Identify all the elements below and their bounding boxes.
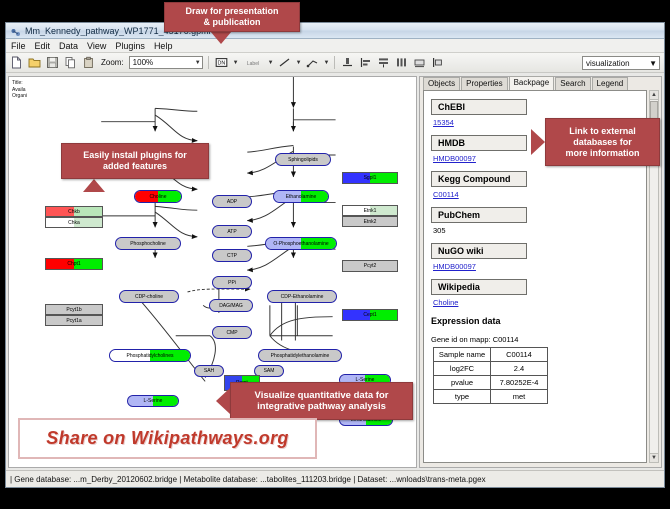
metabolite-label: Phosphatidylcholines (127, 353, 174, 359)
callout-draw: Draw for presentation & publication (164, 2, 300, 32)
metabolite-node-cdp-ethanolamine[interactable]: CDP-Ethanolamine (267, 290, 337, 303)
tab-search[interactable]: Search (555, 77, 590, 90)
gene-label: Pcyt2 (364, 263, 377, 269)
tab-properties[interactable]: Properties (461, 77, 507, 90)
metabolite-label: SAH (204, 368, 214, 374)
menu-data[interactable]: Data (59, 41, 78, 51)
callout-plugins: Easily install plugins for added feature… (61, 143, 209, 179)
metabolite-label: ATP (227, 229, 236, 235)
db-section-kegg: Kegg Compound C00114 (424, 163, 646, 199)
metabolite-node-cmp[interactable]: CMP (212, 326, 252, 339)
db-name-pubchem: PubChem (431, 207, 527, 223)
gene-label: Pcyt1a (66, 318, 81, 324)
chevron-down-icon: ▼ (649, 59, 657, 68)
paste-icon[interactable] (81, 55, 96, 70)
gene-label: Chkb (68, 209, 80, 215)
metabolite-node-sah[interactable]: SAH (194, 365, 224, 377)
screenshot-root: Mm_Kennedy_pathway_WP1771_45176.gpml Fil… (0, 0, 670, 509)
metabolite-label: CDP-Ethanolamine (281, 294, 324, 300)
interaction-icon[interactable] (305, 55, 320, 70)
expr-key-log2fc: log2FC (434, 362, 491, 376)
window-titlebar: Mm_Kennedy_pathway_WP1771_45176.gpml (6, 23, 664, 39)
metabolite-node-ctp[interactable]: CTP (212, 249, 252, 262)
metabolite-label: L-Serine (144, 398, 163, 404)
open-folder-icon[interactable] (27, 55, 42, 70)
callout-links: Link to external databases for more info… (545, 118, 660, 166)
metabolite-node-phosphatidylethanolamine[interactable]: Phosphatidylethanolamine (258, 349, 342, 362)
expr-key-type: type (434, 390, 491, 404)
chevron-down-icon[interactable]: ▼ (233, 60, 239, 66)
svg-text:Label: Label (247, 61, 259, 67)
gene-node-chpt1[interactable]: Chpt1 (45, 258, 103, 270)
db-name-hmdb: HMDB (431, 135, 527, 151)
db-section-wikipedia: Wikipedia Choline (424, 271, 646, 307)
metabolite-label: Phosphocholine (130, 241, 166, 247)
callout-draw-arrow-icon (210, 31, 232, 44)
metabolite-label: Phosphatidylethanolamine (271, 353, 330, 359)
statusbar: | Gene database: ...m_Derby_20120602.bri… (6, 470, 664, 487)
statusbar-text: | Gene database: ...m_Derby_20120602.bri… (10, 475, 486, 484)
chevron-down-icon: ▼ (195, 60, 201, 66)
chevron-down-icon[interactable]: ▼ (296, 60, 302, 66)
line-icon[interactable] (277, 55, 292, 70)
toolbar: Zoom: 100% ▼ DN ▼ Label ▼ ▼ ▼ (6, 53, 664, 73)
metabolite-label: CDP-choline (135, 294, 163, 300)
expr-key-pvalue: pvalue (434, 376, 491, 390)
db-name-wikipedia: Wikipedia (431, 279, 527, 295)
metabolite-label: Choline (150, 194, 167, 200)
metabolite-node-sphingolipids[interactable]: Sphingolipids (275, 153, 331, 166)
share-banner: Share on Wikipathways.org (18, 418, 317, 459)
new-file-icon[interactable] (9, 55, 24, 70)
table-row: pvalue 7.80252E-4 (434, 376, 548, 390)
metabolite-node-phosphatidylcholines[interactable]: Phosphatidylcholines (109, 349, 191, 362)
db-name-kegg: Kegg Compound (431, 171, 527, 187)
align-top-icon[interactable] (340, 55, 355, 70)
metabolite-node-atp[interactable]: ATP (212, 225, 252, 238)
db-name-chebi: ChEBI (431, 99, 527, 115)
gene-node-cept1[interactable]: Cept1 (342, 309, 398, 321)
chevron-down-icon[interactable]: ▼ (268, 60, 274, 66)
gene-label: Sgpl1 (364, 175, 377, 181)
db-link-nugo[interactable]: HMDB00097 (433, 262, 646, 271)
db-value-pubchem: 305 (433, 226, 646, 235)
gene-node-sgpl1[interactable]: Sgpl1 (342, 172, 398, 184)
callout-links-arrow-icon (531, 129, 545, 155)
metabolite-node-adp[interactable]: ADP (212, 195, 252, 208)
db-link-kegg[interactable]: C00114 (433, 190, 646, 199)
db-section-nugo: NuGO wiki HMDB00097 (424, 235, 646, 271)
menu-view[interactable]: View (87, 41, 106, 51)
visualization-value: visualization (586, 59, 630, 68)
zoom-label: Zoom: (101, 58, 124, 67)
callout-visualize: Visualize quantitative data for integrat… (230, 382, 413, 420)
visualization-combobox[interactable]: visualization ▼ (582, 56, 660, 70)
pathway-canvas[interactable]: Title: Availa Organi (8, 76, 417, 468)
metabolite-label: SAM (264, 368, 275, 374)
callout-visualize-arrow-icon (216, 388, 230, 414)
zoom-combobox[interactable]: 100% ▼ (129, 56, 203, 69)
stack-icon[interactable] (376, 55, 391, 70)
metabolite-node-ppi[interactable]: PPi (212, 276, 252, 289)
metabolite-label: Ethanolamine (286, 194, 317, 200)
save-icon[interactable] (45, 55, 60, 70)
menu-file[interactable]: File (11, 41, 26, 51)
gene-label: Etnk2 (364, 219, 377, 225)
side-tabs: Objects Properties Backpage Search Legen… (420, 77, 661, 90)
metabolite-label: CMP (226, 330, 237, 336)
gene-node-etnk1[interactable]: Etnk1 (342, 205, 398, 216)
expression-data-heading: Expression data (431, 316, 646, 326)
share-banner-text: Share on Wikipathways.org (46, 428, 288, 449)
metabolite-node-ethanolamine1[interactable]: Ethanolamine (273, 190, 329, 203)
expr-val-sample-name: C00114 (491, 348, 548, 362)
menubar: File Edit Data View Plugins Help (6, 39, 664, 53)
gene-node-pcyt1a[interactable]: Pcyt1a (45, 315, 103, 326)
order-icon[interactable] (430, 55, 445, 70)
metabolite-label: ADP (227, 199, 237, 205)
toolbar-separator (208, 56, 209, 69)
gene-label: Cept1 (363, 312, 376, 318)
expr-val-log2fc: 2.4 (491, 362, 548, 376)
db-name-nugo: NuGO wiki (431, 243, 527, 259)
tab-objects[interactable]: Objects (423, 77, 460, 90)
table-row: type met (434, 390, 548, 404)
callout-plugins-arrow-icon (83, 179, 105, 192)
copy-icon[interactable] (63, 55, 78, 70)
zoom-value: 100% (133, 58, 153, 67)
metabolite-label: DAG/MAG (219, 303, 243, 309)
metabolite-label: Sphingolipids (288, 157, 318, 163)
gene-label: Etnk1 (364, 208, 377, 214)
gene-node-etnk2[interactable]: Etnk2 (342, 216, 398, 227)
gene-node-pcyt1b[interactable]: Pcyt1b (45, 304, 103, 315)
db-section-pubchem: PubChem 305 (424, 199, 646, 235)
group-icon[interactable] (412, 55, 427, 70)
tab-legend[interactable]: Legend (592, 77, 629, 90)
distribute-icon[interactable] (394, 55, 409, 70)
metabolite-node-o-phosphoethanolamine[interactable]: O-Phosphoethanolamine (265, 237, 337, 250)
expression-table: Sample name C00114 log2FC 2.4 pvalue 7.8… (433, 347, 548, 404)
gene-node-chkb[interactable]: Chkb (45, 206, 103, 217)
label-icon[interactable]: Label (242, 55, 264, 70)
metabolite-node-choline-top[interactable]: Choline (134, 190, 182, 203)
menu-edit[interactable]: Edit (35, 41, 51, 51)
scroll-up-icon[interactable]: ▲ (650, 91, 658, 100)
toolbar-separator (334, 56, 335, 69)
metabolite-node-l-serine-left[interactable]: L-Serine (127, 395, 179, 407)
metabolite-node-cdp-choline[interactable]: CDP-choline (119, 290, 179, 303)
metabolite-label: CTP (227, 253, 237, 259)
gene-id-on-mapp: Gene id on mapp: C00114 (431, 335, 646, 344)
expr-val-pvalue: 7.80252E-4 (491, 376, 548, 390)
gene-label: Chka (68, 220, 80, 226)
table-row: log2FC 2.4 (434, 362, 548, 376)
chevron-down-icon[interactable]: ▼ (324, 60, 330, 66)
table-row: Sample name C00114 (434, 348, 548, 362)
gene-label: Pcyt1b (66, 307, 81, 313)
gene-node-pcyt2[interactable]: Pcyt2 (342, 260, 398, 272)
db-link-wikipedia[interactable]: Choline (433, 298, 646, 307)
metabolite-label: PPi (228, 280, 236, 286)
metabolite-node-dagmag[interactable]: DAG/MAG (209, 299, 253, 312)
datanode-icon[interactable]: DN (214, 55, 229, 70)
gene-node-chka[interactable]: Chka (45, 217, 103, 228)
metabolite-node-phosphocholine[interactable]: Phosphocholine (115, 237, 181, 250)
metabolite-label: O-Phosphoethanolamine (273, 241, 328, 247)
align-left-icon[interactable] (358, 55, 373, 70)
gene-label: Chpt1 (67, 261, 80, 267)
menu-plugins[interactable]: Plugins (115, 41, 145, 51)
app-icon (10, 25, 21, 36)
tab-backpage[interactable]: Backpage (509, 76, 555, 90)
scroll-down-icon[interactable]: ▼ (650, 453, 658, 462)
menu-help[interactable]: Help (154, 41, 173, 51)
expr-val-type: met (491, 390, 548, 404)
svg-text:DN: DN (217, 61, 225, 67)
expr-key-sample-name: Sample name (434, 348, 491, 362)
